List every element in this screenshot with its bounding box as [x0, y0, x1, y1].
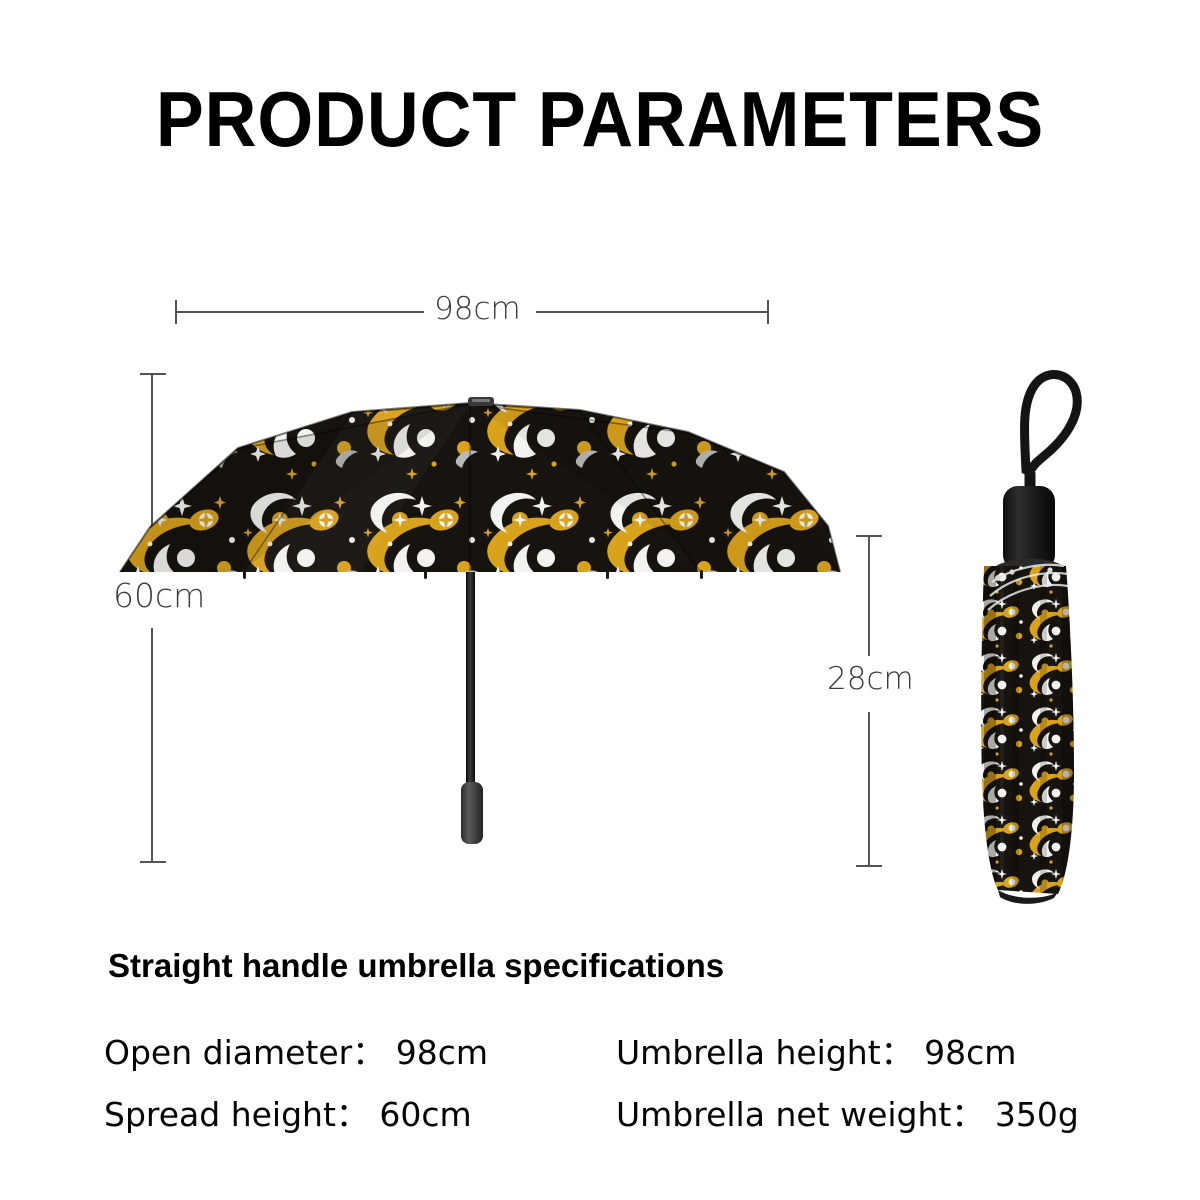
dimension-spread-height — [140, 374, 166, 862]
folded-umbrella — [975, 375, 1085, 905]
open-umbrella — [100, 390, 860, 844]
folded-umbrella-handle — [1003, 486, 1055, 570]
dimension-label-open-diameter: 98cm — [434, 292, 521, 326]
umbrella-canopy — [100, 390, 860, 590]
umbrella-shaft — [466, 556, 475, 788]
umbrella-diagram-svg — [0, 0, 1200, 940]
umbrella-grip — [461, 782, 483, 844]
spec-row: Spread height： 60cm Umbrella net weight：… — [104, 1084, 1114, 1146]
spec-open-diameter: Open diameter： 98cm — [104, 1033, 616, 1073]
spec-umbrella-net-weight: Umbrella net weight： 350g — [616, 1095, 1114, 1135]
wrist-strap — [1024, 375, 1077, 472]
spec-spread-height: Spread height： 60cm — [104, 1095, 616, 1135]
spec-row: Open diameter： 98cm Umbrella height： 98c… — [104, 1022, 1114, 1084]
spec-heading: Straight handle umbrella specifications — [108, 946, 724, 986]
spec-table: Open diameter： 98cm Umbrella height： 98c… — [104, 1022, 1114, 1146]
product-diagram: 98cm 60cm 28cm — [0, 0, 1200, 940]
dimension-folded-length — [856, 536, 882, 866]
umbrella-finial-highlight — [472, 399, 490, 402]
spec-umbrella-height: Umbrella height： 98cm — [616, 1033, 1114, 1073]
dimension-label-spread-height: 60cm — [113, 578, 205, 614]
dimension-label-folded-length: 28cm — [827, 662, 914, 696]
